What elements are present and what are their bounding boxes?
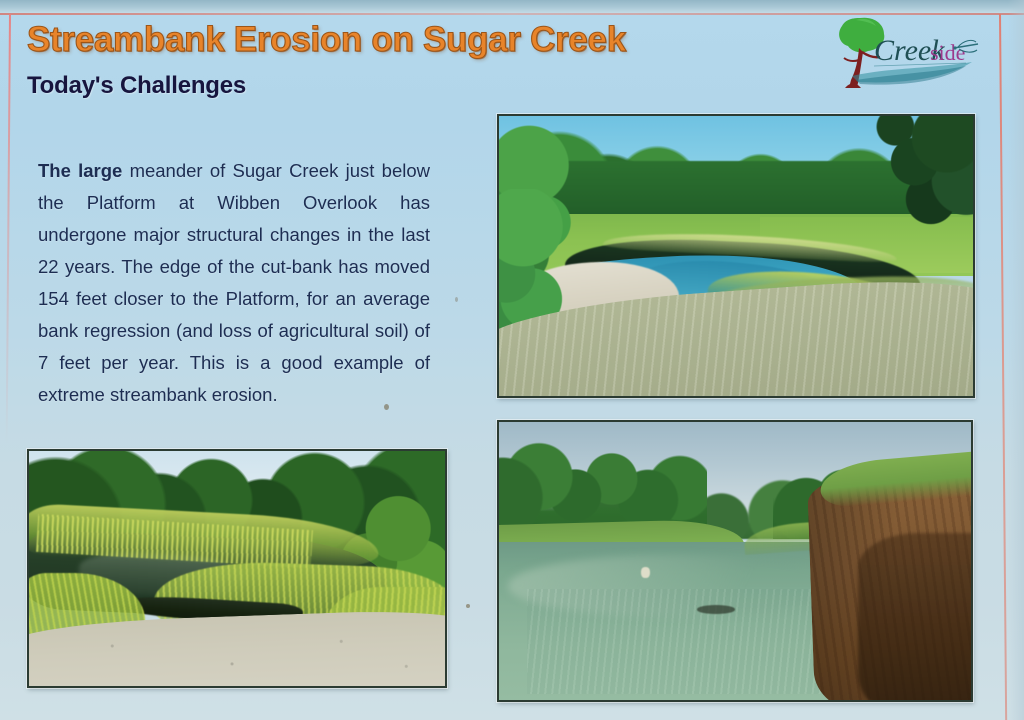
floating-debris-layer — [697, 605, 735, 613]
sign-blemish — [466, 604, 470, 608]
cut-bank-face-layer — [858, 533, 971, 700]
logo-word-side: side — [930, 40, 965, 65]
body-text: meander of Sugar Creek just below the Pl… — [38, 160, 430, 405]
creekside-logo-artwork: Creek side — [826, 8, 991, 96]
section-subtitle: Today's Challenges — [27, 72, 246, 100]
sign-blemish — [455, 297, 458, 302]
photo-eroding-bank — [27, 449, 447, 688]
photo-meander-scene — [499, 116, 973, 396]
page-title: Streambank Erosion on Sugar Creek — [27, 20, 626, 60]
photo-eroding-bank-scene — [29, 451, 445, 686]
sign-blemish — [384, 404, 389, 410]
body-lead-in: The large — [38, 160, 122, 181]
interpretive-sign-panel: Streambank Erosion on Sugar Creek Today'… — [0, 0, 1024, 720]
creekside-wordmark: Creek side — [874, 34, 965, 67]
photo-downstream-view — [497, 420, 973, 702]
photo-meander — [497, 114, 975, 398]
creekside-logo: Creek side — [826, 8, 991, 96]
photo-downstream-scene — [499, 422, 971, 700]
overhanging-foliage-layer — [831, 116, 973, 242]
distant-figure-layer — [641, 567, 650, 578]
sign-right-edge-shading — [1008, 0, 1024, 720]
body-paragraph: The large meander of Sugar Creek just be… — [38, 155, 430, 411]
sign-left-border-rule — [6, 14, 11, 444]
sign-right-border-rule — [999, 14, 1007, 720]
